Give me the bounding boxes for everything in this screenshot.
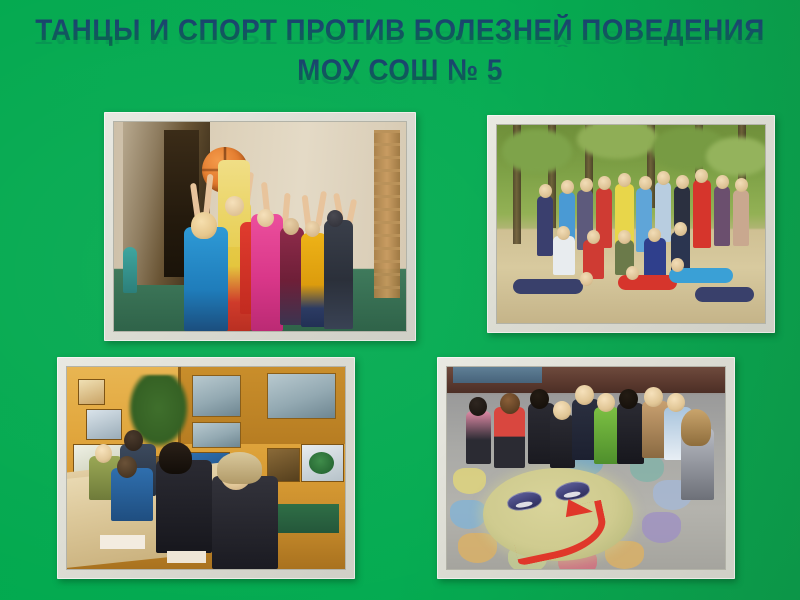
foliage — [577, 125, 657, 159]
teen-figure — [617, 403, 645, 464]
forest-group-photo — [497, 125, 765, 323]
classroom-meeting-photo — [67, 367, 345, 569]
child-head — [327, 210, 343, 227]
chalk-sun-drawing — [483, 468, 633, 561]
child-head — [191, 212, 217, 239]
person-head — [716, 175, 729, 189]
person-head — [674, 222, 687, 236]
person-head — [587, 230, 600, 244]
photo-frame-inner — [496, 124, 766, 324]
chalk-eye-glint — [516, 500, 534, 509]
person-figure — [537, 196, 553, 255]
person-figure — [714, 186, 730, 245]
title-line-2-reflection: МОУ СОШ № 5 — [28, 66, 772, 87]
person-head — [626, 266, 639, 280]
person-head — [671, 258, 684, 272]
person-figure-lying — [695, 287, 754, 302]
teen-hair — [681, 409, 712, 445]
child-head — [225, 196, 244, 216]
cabinet-glass-pane — [192, 422, 241, 448]
wall-poster — [78, 379, 105, 405]
chalk-eye-glint — [564, 490, 582, 499]
person-head — [580, 272, 593, 286]
photo-frame-top-right[interactable] — [487, 115, 775, 333]
chalk-handprint — [642, 512, 681, 542]
person-head — [676, 175, 689, 189]
teen-figure — [494, 407, 525, 468]
person-head — [124, 430, 143, 451]
person-figure — [156, 460, 212, 553]
person-figure-seated — [644, 238, 665, 278]
person-head — [695, 169, 708, 183]
teen-head — [553, 401, 571, 420]
child-figure — [301, 233, 327, 327]
title-line-2-wrap: МОУ СОШ № 5 МОУ СОШ № 5 — [0, 54, 800, 92]
foliage — [706, 137, 765, 177]
teen-head — [575, 385, 594, 405]
background-fence-blue — [453, 367, 542, 383]
paper-sheet — [167, 551, 206, 563]
person-figure — [733, 190, 749, 245]
green-board — [273, 504, 340, 532]
child-figure — [251, 214, 283, 331]
teen-figure — [466, 411, 491, 464]
photo-frame-inner — [113, 121, 407, 332]
teen-head — [500, 393, 520, 414]
child-figure — [123, 247, 138, 293]
chalk-handprint — [453, 468, 486, 494]
person-figure — [693, 180, 712, 247]
gym-basketball-photo — [114, 122, 406, 331]
person-head — [117, 456, 137, 478]
person-figure-foreground — [212, 476, 279, 569]
photo-frame-inner — [446, 366, 726, 570]
globe-emblem-icon — [309, 452, 334, 474]
chalk-handprint — [450, 500, 486, 528]
photo-frame-top-left[interactable] — [104, 112, 416, 341]
cabinet-glass-pane — [267, 373, 336, 419]
teen-figure — [594, 407, 619, 464]
chalk-eye-left — [506, 489, 544, 513]
chalk-handprint — [458, 533, 497, 563]
child-figure-foreground — [184, 227, 228, 332]
person-head — [618, 230, 631, 244]
slide-title-block: ТАНЦЫ И СПОРТ ПРОТИВ БОЛЕЗНЕЙ ПОВЕДЕНИЯ … — [0, 14, 800, 92]
foliage — [502, 129, 572, 173]
title-line-1-wrap: ТАНЦЫ И СПОРТ ПРОТИВ БОЛЕЗНЕЙ ПОВЕДЕНИЯ … — [0, 14, 800, 54]
teen-head — [667, 393, 685, 412]
photo-frame-inner — [66, 366, 346, 570]
person-head — [95, 444, 112, 463]
child-figure — [324, 220, 353, 329]
presentation-slide: ТАНЦЫ И СПОРТ ПРОТИВ БОЛЕЗНЕЙ ПОВЕДЕНИЯ … — [0, 0, 800, 600]
paper-sheet — [100, 535, 144, 549]
person-hair — [217, 452, 261, 484]
person-head — [618, 173, 631, 187]
person-figure-seated — [553, 236, 574, 276]
person-head — [580, 178, 593, 192]
child-head — [257, 209, 274, 227]
photo-frame-bottom-right[interactable] — [437, 357, 735, 579]
title-line-1-reflection: ТАНЦЫ И СПОРТ ПРОТИВ БОЛЕЗНЕЙ ПОВЕДЕНИЯ — [28, 26, 772, 47]
page-title: ТАНЦЫ И СПОРТ ПРОТИВ БОЛЕЗНЕЙ ПОВЕДЕНИЯ — [28, 14, 772, 48]
person-figure-lying — [513, 279, 583, 294]
person-head — [639, 176, 652, 190]
chalk-smiley-photo — [447, 367, 725, 569]
photo-frame-bottom-left[interactable] — [57, 357, 355, 579]
wall-poster — [86, 409, 121, 439]
page-subtitle: МОУ СОШ № 5 — [28, 54, 772, 88]
cabinet-glass-pane — [192, 375, 241, 417]
person-figure-lying — [618, 275, 677, 290]
gym-wall-bars — [374, 130, 400, 297]
person-hair — [159, 442, 192, 474]
person-head — [657, 171, 670, 185]
